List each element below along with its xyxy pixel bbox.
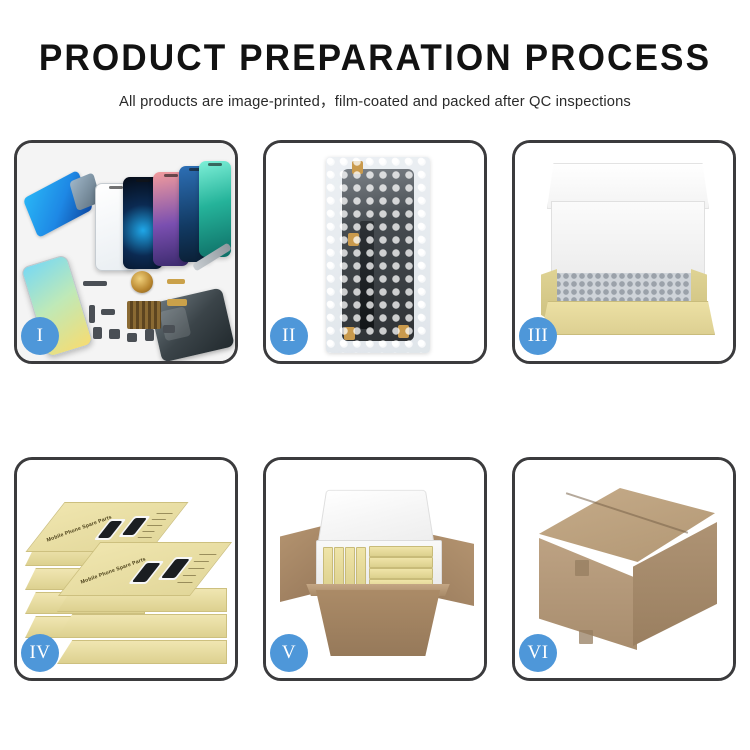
gold-flex-icon (167, 279, 185, 284)
gold-cable-icon (167, 299, 187, 306)
box-front-panel-icon (541, 301, 715, 335)
retail-box-edge (57, 640, 227, 664)
connector-chip-icon (83, 281, 107, 286)
step-badge-1: I (21, 317, 59, 355)
step-badge-2: II (270, 317, 308, 355)
step-badge-5: V (270, 634, 308, 672)
packed-box-icon (369, 568, 433, 579)
bubble-wrap-bag-icon (326, 157, 430, 353)
packed-box-icon (369, 546, 433, 557)
process-step-panel-1[interactable]: I (14, 140, 238, 364)
process-step-panel-2[interactable]: II (263, 140, 487, 364)
step-badge-6: VI (519, 634, 557, 672)
retail-box-edge (57, 614, 227, 638)
foam-sheet-icon (551, 201, 705, 279)
small-part-icon (163, 325, 175, 333)
page-subtitle: All products are image-printed，film-coat… (11, 78, 739, 111)
step-badge-3: III (519, 317, 557, 355)
carton-front-icon (304, 590, 452, 656)
small-part-icon (101, 309, 115, 315)
packed-box-icon (369, 557, 433, 568)
process-step-panel-5[interactable]: V (263, 457, 487, 681)
page-header: PRODUCT PREPARATION PROCESS All products… (0, 0, 750, 111)
small-part-icon (145, 329, 154, 341)
small-part-icon (89, 305, 95, 323)
process-step-panel-3[interactable]: III (512, 140, 736, 364)
component-parts-group (83, 271, 195, 345)
bubble-texture-overlay (326, 157, 430, 353)
small-part-icon (127, 333, 137, 342)
chip-array-icon (127, 301, 161, 329)
small-part-icon (93, 327, 102, 339)
carton-tape-icon (575, 560, 589, 576)
process-step-panel-4[interactable]: Mobile Phone Spare Parts Mobile Phone Sp… (14, 457, 238, 681)
phone-lineup-group (95, 161, 225, 271)
foam-case-lid-icon (317, 490, 435, 547)
speaker-coil-icon (131, 271, 153, 293)
step-badge-4: IV (21, 634, 59, 672)
process-step-grid: I II III (14, 140, 736, 681)
page-title: PRODUCT PREPARATION PROCESS (19, 0, 732, 78)
small-part-icon (109, 329, 120, 339)
carton-tape-icon (579, 630, 593, 644)
blue-screen-film-icon (23, 170, 94, 238)
process-step-panel-6[interactable]: VI (512, 457, 736, 681)
